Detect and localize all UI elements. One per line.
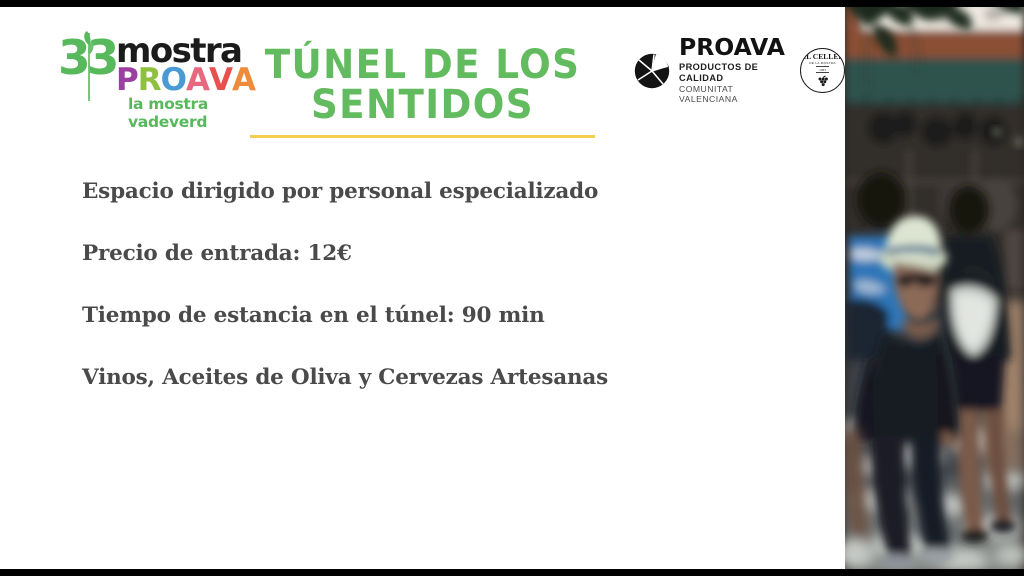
body-line-1: Espacio dirigido por personal especializ… (82, 179, 722, 205)
body-line-4: Vinos, Aceites de Oliva y Cervezas Artes… (82, 365, 722, 391)
grape-cluster-icon (815, 75, 830, 88)
slide-body-list: Espacio dirigido por personal especializ… (82, 179, 722, 391)
vine-sprout-icon (82, 29, 96, 103)
slide-title-line-2: SENTIDOS (262, 85, 583, 125)
slide-title-line-1: TÚNEL DE LOS (262, 45, 583, 85)
logo-letter-p: P (116, 65, 138, 95)
proava-subtitle-line-2: COMUNITAT VALENCIANA (679, 84, 791, 104)
el-celler-seal-logo: EL CELLER DE LA MOSTRA 1983 (800, 48, 845, 93)
celler-seal-name: EL CELLER (801, 53, 844, 60)
body-line-3: Tiempo de estancia en el túnel: 90 min (82, 303, 722, 329)
logo-letter-v: V (209, 65, 232, 95)
presentation-slide: 33 mostra P R O A V A la mostra vadeverd… (0, 0, 1024, 576)
street-scene-photo-illustration (845, 0, 1024, 576)
logo-letter-a1: A (186, 65, 209, 95)
slide-title: TÚNEL DE LOS SENTIDOS (250, 45, 595, 138)
title-underline-rule (250, 135, 595, 138)
letterbox-bar-top (0, 0, 1024, 7)
letterbox-bar-bottom (0, 569, 1024, 576)
street-scene-photo (845, 0, 1024, 576)
mostra-proava-logo: 33 mostra P R O A V A la mostra vadeverd (58, 29, 238, 117)
logo-letter-r: R (138, 65, 161, 95)
logo-word-proava: P R O A V A (116, 65, 255, 95)
celler-seal-subline: DE LA MOSTRA (809, 61, 835, 65)
celler-seal-year: 1983 (816, 66, 829, 73)
slide-content-canvas: 33 mostra P R O A V A la mostra vadeverd… (0, 7, 845, 569)
proava-subtitle-line-1: PRODUCTOS DE CALIDAD (679, 62, 791, 84)
proava-wordmark: PROAVA (679, 37, 793, 60)
proava-circular-mark-icon (634, 53, 670, 89)
proava-text-block: PROAVA PRODUCTOS DE CALIDAD COMUNITAT VA… (679, 37, 791, 104)
body-line-2: Precio de entrada: 12€ (82, 241, 722, 267)
logo-letter-o: O (161, 65, 186, 95)
logo-tagline: la mostra vadeverd (128, 95, 238, 131)
proava-logo-group: PROAVA PRODUCTOS DE CALIDAD COMUNITAT VA… (634, 37, 845, 104)
